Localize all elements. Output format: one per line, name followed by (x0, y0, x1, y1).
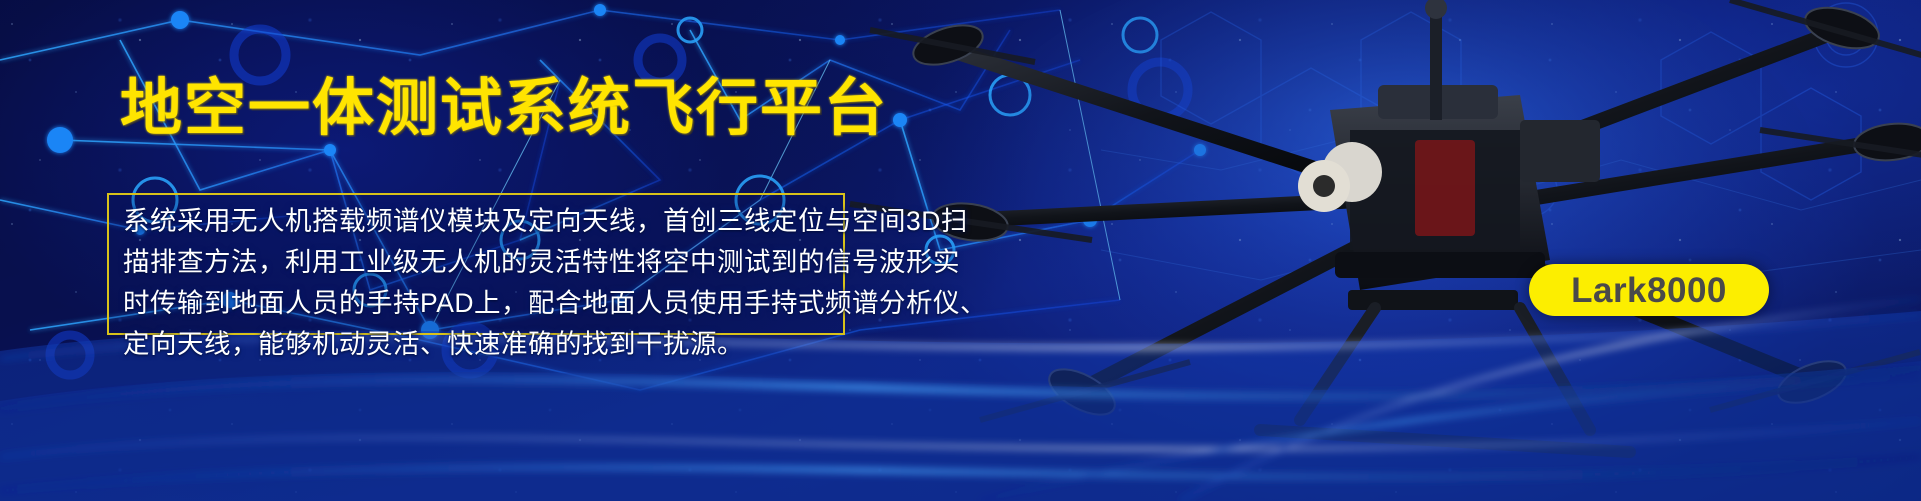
hexagon-mesh-graphic (1101, 0, 1921, 330)
drone-photo (830, 0, 1921, 460)
page-title: 地空一体测试系统飞行平台 (120, 78, 888, 140)
description-line: 系统采用无人机搭载频谱仪模块及定向天线，首创三线定位与空间3D扫 (123, 201, 831, 242)
description-line: 时传输到地面人员的手持PAD上，配合地面人员使用手持式频谱分析仪、 (123, 283, 831, 324)
product-model-badge: Lark8000 (1529, 264, 1769, 316)
promo-banner: 地空一体测试系统飞行平台 系统采用无人机搭载频谱仪模块及定向天线，首创三线定位与… (0, 0, 1921, 501)
description-box: 系统采用无人机搭载频谱仪模块及定向天线，首创三线定位与空间3D扫 描排查方法，利… (107, 193, 845, 335)
description-line: 描排查方法，利用工业级无人机的灵活特性将空中测试到的信号波形实 (123, 242, 831, 283)
description-line: 定向天线，能够机动灵活、快速准确的找到干扰源。 (123, 324, 831, 365)
product-model-label: Lark8000 (1571, 273, 1727, 308)
